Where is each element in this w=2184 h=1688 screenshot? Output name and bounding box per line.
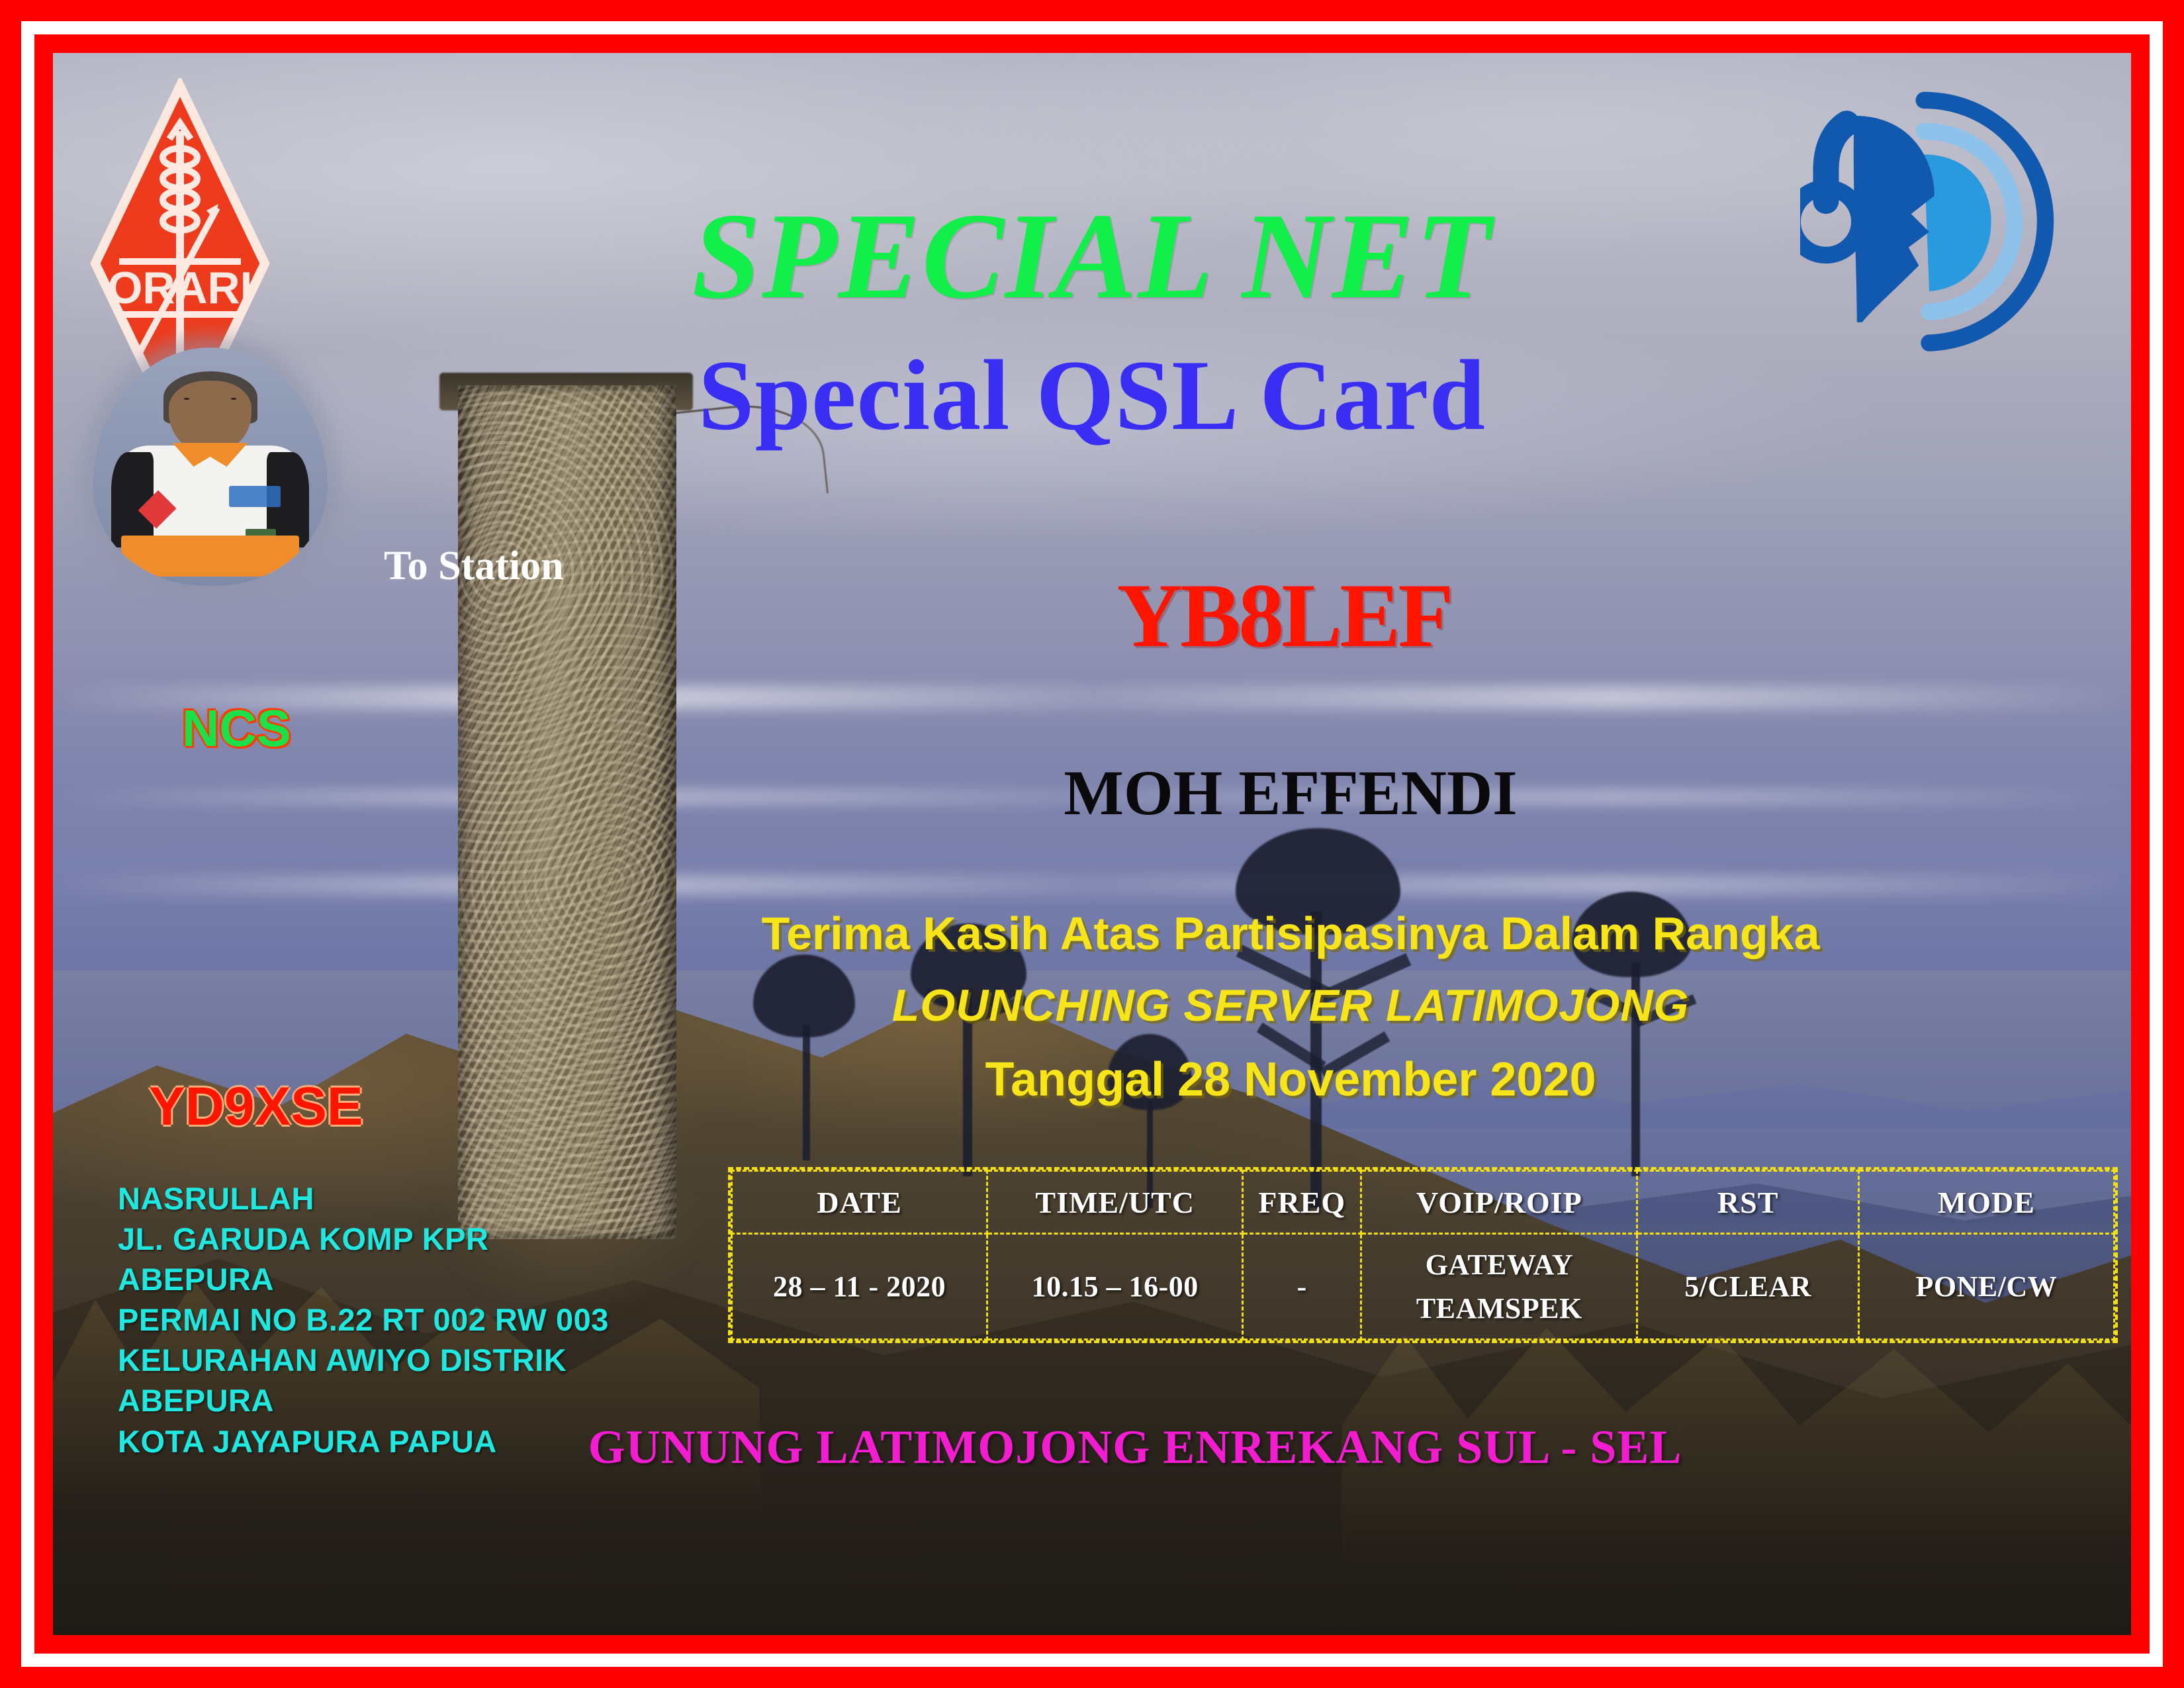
event-line: LOUNCHING SERVER LATIMOJONG <box>251 980 2131 1031</box>
address-line: NASRULLAH <box>118 1178 609 1219</box>
column-header-date: DATE <box>732 1171 987 1234</box>
thanks-line: Terima Kasih Atas Partisipasinya Dalam R… <box>251 907 2131 960</box>
slogan-text: "AMATIR RADIO ADALAH PROGRESIVE" <box>129 1628 1037 1635</box>
cell-freq: - <box>1243 1234 1361 1340</box>
table-header-row: DATE TIME/UTC FREQ VOIP/ROIP RST MODE <box>732 1171 2115 1234</box>
address-line: KELURAHAN AWIYO DISTRIK <box>118 1340 609 1380</box>
column-header-rst: RST <box>1637 1171 1858 1234</box>
silhouette-tree <box>884 923 1071 1176</box>
cell-mode: PONE/CW <box>1858 1234 2114 1340</box>
address-line: ABEPURA <box>118 1259 609 1299</box>
address-line: JL. GARUDA KOMP KPR <box>118 1219 609 1259</box>
cell-voip-roip-line2: TEAMSPEK <box>1416 1292 1582 1325</box>
card-photo-background: ORARI NCS <box>53 53 2131 1635</box>
location-line: GUNUNG LATIMOJONG ENREKANG SUL - SEL <box>96 1420 2131 1475</box>
qsl-card: ORARI NCS <box>0 0 2184 1688</box>
column-header-time: TIME/UTC <box>987 1171 1243 1234</box>
page-title-special-net: SPECIAL NET <box>53 185 2131 327</box>
ncs-label: NCS <box>182 698 291 759</box>
operator-name: MOH EFFENDI <box>251 756 2131 829</box>
page-subtitle-qsl-card: Special QSL Card <box>53 338 2131 453</box>
cloud-band <box>53 686 2131 710</box>
column-header-mode: MODE <box>1858 1171 2114 1234</box>
column-header-freq: FREQ <box>1243 1171 1361 1234</box>
cell-voip-roip-line1: GATEWAY <box>1426 1248 1574 1281</box>
station-callsign: YB8LEF <box>245 563 2131 668</box>
cell-date: 28 – 11 - 2020 <box>732 1234 987 1340</box>
qso-table: DATE TIME/UTC FREQ VOIP/ROIP RST MODE 28… <box>728 1167 2118 1343</box>
address-line: ABEPURA <box>118 1380 609 1421</box>
sender-address-block: NASRULLAH JL. GARUDA KOMP KPR ABEPURA PE… <box>118 1178 609 1462</box>
event-date-line: Tanggal 28 November 2020 <box>251 1053 2131 1107</box>
column-header-voip-roip: VOIP/ROIP <box>1361 1171 1637 1234</box>
cell-voip-roip: GATEWAY TEAMSPEK <box>1361 1234 1637 1340</box>
cell-time: 10.15 – 16-00 <box>987 1234 1243 1340</box>
avatar-emblem <box>229 486 281 507</box>
cell-rst: 5/CLEAR <box>1637 1234 1858 1340</box>
footer-address: Address : amatir.latimojong.com <box>1274 1627 1923 1635</box>
table-row: 28 – 11 - 2020 10.15 – 16-00 - GATEWAY T… <box>732 1234 2115 1340</box>
address-line: PERMAI NO B.22 RT 002 RW 003 <box>118 1299 609 1340</box>
